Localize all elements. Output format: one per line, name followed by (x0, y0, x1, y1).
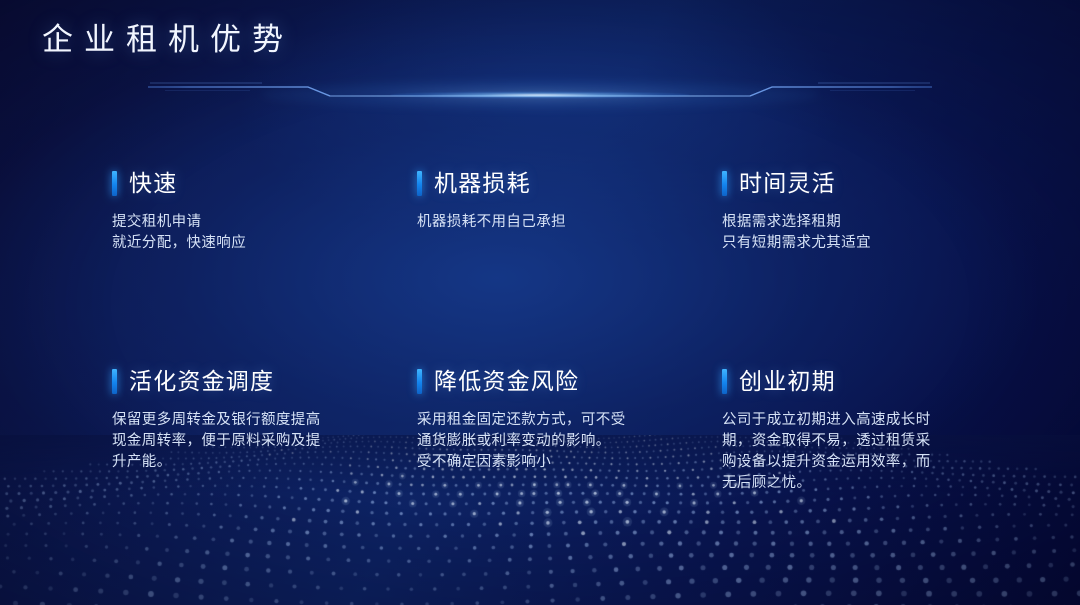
feature-card-startup-phase: 创业初期 公司于成立初期进入高速成长时 期，资金取得不易，透过租赁采 购设备以提… (722, 366, 1027, 494)
accent-bar-icon (417, 369, 422, 394)
feature-heading-row: 机器损耗 (417, 168, 722, 198)
accent-bar-icon (417, 171, 422, 196)
feature-body: 机器损耗不用自己承担 (417, 212, 693, 233)
accent-bar-icon (722, 171, 727, 196)
feature-heading: 快速 (129, 172, 177, 195)
feature-heading-row: 时间灵活 (722, 168, 1027, 198)
accent-bar-icon (112, 171, 117, 196)
feature-card-lower-risk: 降低资金风险 采用租金固定还款方式，可不受 通货膨胀或利率变动的影响。 受不确定… (417, 366, 722, 494)
feature-body: 根据需求选择租期 只有短期需求尤其适宜 (722, 212, 998, 254)
feature-body: 提交租机申请 就近分配，快速响应 (112, 212, 388, 254)
feature-card-fast: 快速 提交租机申请 就近分配，快速响应 (0, 168, 417, 254)
accent-bar-icon (112, 369, 117, 394)
feature-heading-row: 活化资金调度 (112, 366, 417, 396)
feature-body: 采用租金固定还款方式，可不受 通货膨胀或利率变动的影响。 受不确定因素影响小 (417, 410, 693, 473)
feature-row-top: 快速 提交租机申请 就近分配，快速响应 机器损耗 机器损耗不用自己承担 时间灵活… (0, 168, 1080, 254)
feature-body: 公司于成立初期进入高速成长时 期，资金取得不易，透过租赁采 购设备以提升资金运用… (722, 410, 998, 494)
feature-heading: 创业初期 (739, 370, 836, 393)
divider-glow-core (390, 92, 690, 99)
feature-body: 保留更多周转金及银行额度提高 现金周转率，便于原料采购及提 升产能。 (112, 410, 388, 473)
feature-heading: 降低资金风险 (434, 370, 579, 393)
decorative-divider (0, 72, 1080, 114)
feature-card-flexible-time: 时间灵活 根据需求选择租期 只有短期需求尤其适宜 (722, 168, 1027, 254)
feature-card-machine-wear: 机器损耗 机器损耗不用自己承担 (417, 168, 722, 254)
page-title: 企业租机优势 (42, 21, 294, 60)
feature-card-capital-flow: 活化资金调度 保留更多周转金及银行额度提高 现金周转率，便于原料采购及提 升产能… (0, 366, 417, 494)
feature-heading-row: 创业初期 (722, 366, 1027, 396)
feature-heading-row: 降低资金风险 (417, 366, 722, 396)
feature-heading: 活化资金调度 (129, 370, 274, 393)
feature-heading: 机器损耗 (434, 172, 531, 195)
accent-bar-icon (722, 369, 727, 394)
slide-root: 企业租机优势 (0, 0, 1080, 605)
feature-heading-row: 快速 (112, 168, 417, 198)
feature-heading: 时间灵活 (739, 172, 836, 195)
feature-row-bottom: 活化资金调度 保留更多周转金及银行额度提高 现金周转率，便于原料采购及提 升产能… (0, 366, 1080, 494)
feature-grid: 快速 提交租机申请 就近分配，快速响应 机器损耗 机器损耗不用自己承担 时间灵活… (0, 168, 1080, 494)
